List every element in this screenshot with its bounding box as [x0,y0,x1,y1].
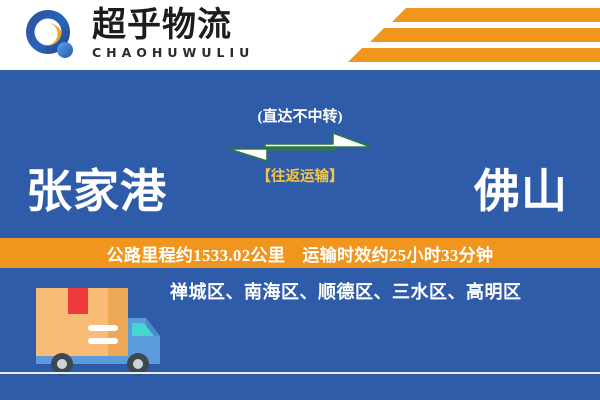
roundtrip-note: 【往返运输】 [218,168,382,186]
direct-route-note: (直达不中转) [218,108,382,126]
destination-city: 佛山 [474,169,568,215]
route-panel: 张家港 (直达不中转) 【往返运输】 佛山 [0,70,600,238]
info-bar: 公路里程约1533.02公里 运输时效约25小时33分钟 [0,238,600,268]
service-areas-text: 禅城区、南海区、顺德区、三水区、高明区 [170,280,584,304]
stripe-2 [370,28,600,42]
route-middle: (直达不中转) 【往返运输】 [218,108,382,186]
brand-name-cn: 超乎物流 [92,6,282,44]
company-logo-icon [24,8,84,64]
bottom-divider [0,372,600,374]
logistics-route-poster: 超乎物流 CHAOHUWULIU 张家港 (直达不中转) 【往返运输】 [0,0,600,400]
header-stripes-icon [330,6,600,66]
origin-city: 张家港 [26,169,167,215]
header: 超乎物流 CHAOHUWULIU [0,0,600,70]
delivery-truck-icon [28,278,168,376]
double-headed-arrow-icon [218,130,382,166]
service-areas-panel: 禅城区、南海区、顺德区、三水区、高明区 [0,268,600,400]
brand-block: 超乎物流 CHAOHUWULIU [92,6,282,64]
stripe-1 [392,8,600,22]
brand-name-en: CHAOHUWULIU [92,45,282,60]
distance-and-duration-text: 公路里程约1533.02公里 运输时效约25小时33分钟 [107,241,494,266]
stripe-3 [348,48,600,62]
